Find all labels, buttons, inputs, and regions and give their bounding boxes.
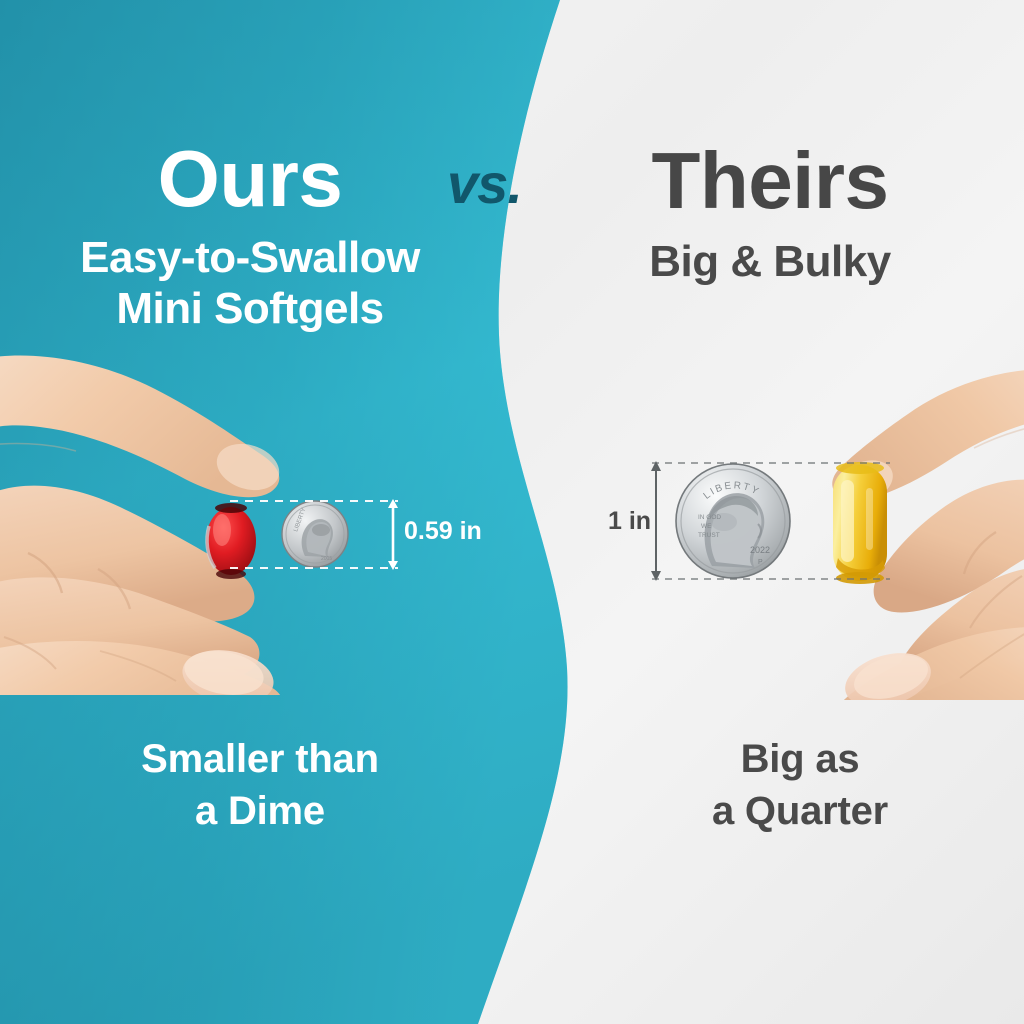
left-measurement-label: 0.59 in: [404, 517, 482, 546]
theirs-subtitle: Big & Bulky: [570, 236, 970, 287]
theirs-title: Theirs: [570, 141, 970, 221]
ours-title: Ours: [0, 139, 500, 219]
left-caption-line1: Smaller than: [40, 733, 480, 785]
left-measurement-guides: [230, 492, 420, 592]
right-caption-line2: a Quarter: [580, 785, 1020, 837]
ours-subtitle-line2: Mini Softgels: [0, 283, 500, 334]
ours-subtitle: Easy-to-Swallow Mini Softgels: [0, 232, 500, 335]
right-measurement-label: 1 in: [608, 507, 651, 536]
right-caption: Big as a Quarter: [580, 733, 1020, 837]
vs-label: vs.: [447, 156, 522, 212]
left-caption-line2: a Dime: [40, 785, 480, 837]
right-caption-line1: Big as: [580, 733, 1020, 785]
comparison-infographic: Ours Easy-to-Swallow Mini Softgels vs. T…: [0, 0, 1024, 1024]
ours-subtitle-line1: Easy-to-Swallow: [0, 232, 500, 283]
left-caption: Smaller than a Dime: [40, 733, 480, 837]
